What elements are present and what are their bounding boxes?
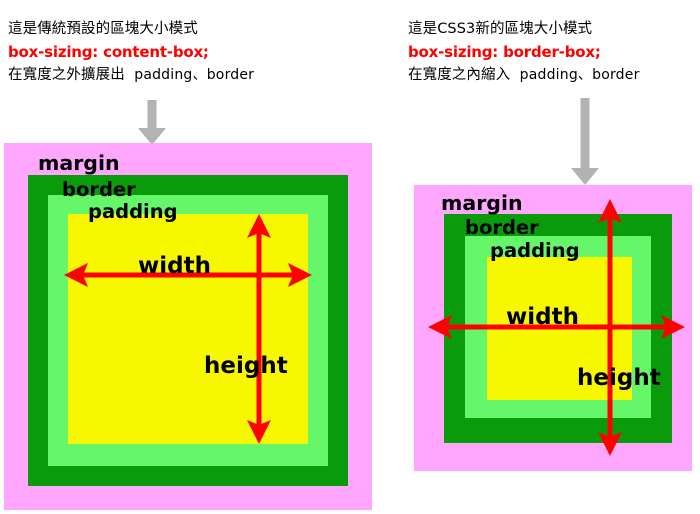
right-caption-block: 這是CSS3新的區塊大小模式 box-sizing: border-box; 在…: [408, 18, 640, 87]
arrow-down-icon: [570, 98, 600, 186]
right-caption-line-3: 在寬度之內縮入 padding、border: [408, 64, 640, 87]
left-caption-line-1: 這是傳統預設的區塊大小模式: [8, 18, 254, 41]
right-caption-line-1: 這是CSS3新的區塊大小模式: [408, 18, 640, 41]
arrow-down-icon: [137, 100, 167, 146]
padding-label: padding: [88, 202, 178, 222]
left-caption-line-3-prefix: 在寬度之外擴展出: [8, 67, 125, 83]
left-caption-line-3-suffix: padding、border: [134, 67, 254, 83]
padding-label: padding: [490, 241, 580, 261]
height-label: height: [204, 355, 288, 378]
margin-label: margin: [38, 153, 120, 174]
height-label: height: [577, 367, 661, 390]
right-caption-code: box-sizing: border-box;: [408, 41, 640, 64]
border-label: border: [62, 180, 136, 200]
left-caption-code: box-sizing: content-box;: [8, 41, 254, 64]
left-caption-block: 這是傳統預設的區塊大小模式 box-sizing: content-box; 在…: [8, 18, 254, 87]
left-caption-line-3: 在寬度之外擴展出 padding、border: [8, 64, 254, 87]
right-caption-line-3-suffix: padding、border: [520, 67, 640, 83]
border-label: border: [465, 218, 539, 238]
width-label: width: [138, 255, 211, 278]
margin-label: margin: [441, 193, 523, 214]
right-caption-line-3-prefix: 在寬度之內縮入: [408, 67, 510, 83]
content-box-diagram: margin border padding width height: [4, 143, 372, 510]
width-label: width: [506, 306, 579, 329]
border-box-diagram: margin border padding width height: [414, 185, 692, 471]
content-layer: [68, 214, 308, 444]
